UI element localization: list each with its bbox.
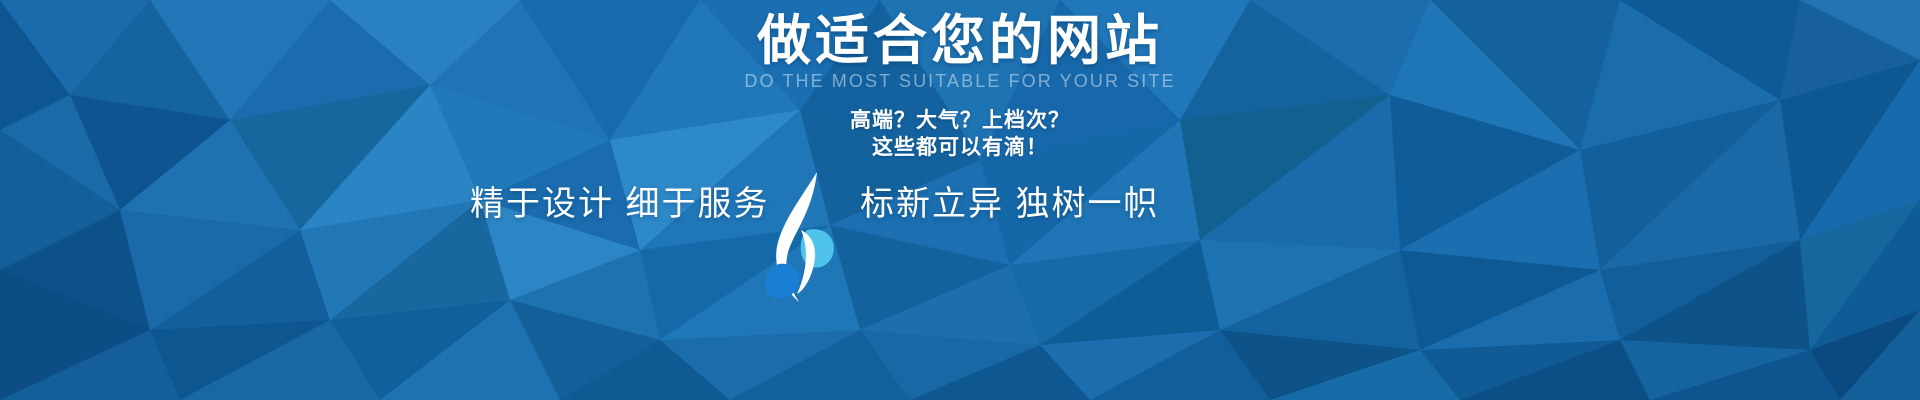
slogan-right: 标新立异 独树一帜 <box>860 182 1159 226</box>
page-title: 做适合您的网站 <box>0 8 1920 74</box>
promo-banner: 做适合您的网站 DO THE MOST SUITABLE FOR YOUR SI… <box>0 0 1920 400</box>
page-subtitle-english: DO THE MOST SUITABLE FOR YOUR SITE <box>0 70 1920 92</box>
leaf-swoosh-logo <box>745 168 855 308</box>
banner-content: 做适合您的网站 DO THE MOST SUITABLE FOR YOUR SI… <box>0 0 1920 400</box>
tagline-line-2: 这些都可以有滴！ <box>0 134 1920 161</box>
slogan-left: 精于设计 细于服务 <box>470 182 769 226</box>
tagline-line-1: 高端？大气？上档次？ <box>0 107 1920 134</box>
